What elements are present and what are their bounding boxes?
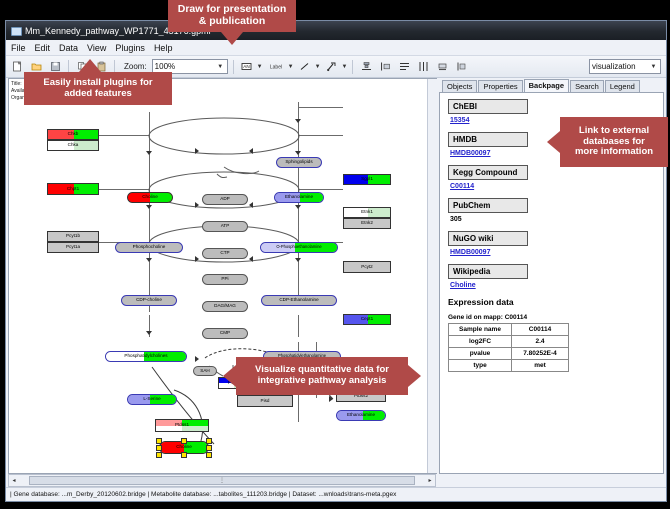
tab-search[interactable]: Search [570, 80, 604, 92]
callout-visualize-data: Visualize quantitative data for integrat… [236, 357, 408, 395]
arrow-dag-to-cmp-left [195, 256, 199, 262]
new-file-icon[interactable] [9, 58, 25, 75]
backpage-link-nugo[interactable]: HMDB00097 [450, 249, 655, 256]
node-gene-pcyt1a[interactable]: Pcyt1a [47, 242, 99, 253]
canvas-vertical-scrollbar[interactable] [427, 79, 437, 473]
visualization-value: visualization [592, 62, 649, 71]
zoom-label: Zoom: [124, 62, 147, 71]
node-ethanolamine-right[interactable]: Ethanolamine [336, 410, 386, 421]
backpage-header-nugo: NuGO wiki [448, 231, 528, 246]
pathway-canvas[interactable]: Title: Availa Organi [8, 78, 437, 474]
svg-text:AN: AN [243, 64, 249, 69]
callout-install-plugins: Easily install plugins for added feature… [24, 72, 172, 105]
chevron-down-icon[interactable]: ▼ [288, 64, 294, 70]
arrow-adp-to-atp-right [249, 148, 253, 154]
node-sah[interactable]: SAH [193, 366, 217, 376]
edge-to-phosphatidylethanolamine [298, 315, 299, 337]
tab-backpage[interactable]: Backpage [524, 79, 569, 92]
sidebar-tabs: Objects Properties Backpage Search Legen… [439, 78, 664, 92]
cell-value: C00114 [512, 324, 569, 336]
node-adp[interactable]: ADP [202, 194, 248, 205]
chevron-down-icon[interactable]: ▼ [315, 64, 321, 70]
cell-key: pvalue [449, 348, 512, 360]
menu-item-help[interactable]: Help [154, 43, 173, 53]
toolbar-separator [352, 60, 353, 74]
callout-text: Draw for presentation & publication [178, 4, 287, 28]
line-icon[interactable] [297, 58, 313, 75]
expression-data-title: Expression data [448, 297, 655, 307]
node-gene-pcyt1b[interactable]: Pcyt1b [47, 231, 99, 242]
edge-sgpl1-stub [298, 107, 343, 108]
node-phosphatidylcholines[interactable]: Phosphatidylcholines [105, 351, 187, 362]
node-gene-chkb[interactable]: Chkb [47, 129, 99, 140]
node-gene-etnk2[interactable]: Etnk2 [343, 218, 391, 229]
node-gene-etnk1[interactable]: Etnk1 [343, 207, 391, 218]
backpage-header-hmdb: HMDB [448, 132, 528, 147]
backpage-link-kegg[interactable]: C00114 [450, 183, 655, 190]
node-gene-pisd[interactable]: Pisd [237, 395, 293, 407]
arrow-ctp-to-ppi-right [249, 202, 253, 208]
arrow-dag-to-cmp-right [249, 256, 253, 262]
backpage-link-wikipedia[interactable]: Choline [450, 282, 655, 289]
menu-item-data[interactable]: Data [59, 43, 78, 53]
menu-item-plugins[interactable]: Plugins [115, 43, 145, 53]
arrow-pe-to-pc [195, 356, 199, 362]
svg-text:Label: Label [270, 65, 282, 71]
arrow-choline-to-phosphocholine [146, 151, 152, 155]
status-bar-text: | Gene database: ...m_Derby_20120602.bri… [10, 491, 396, 498]
visualization-combo[interactable]: visualization ▼ [589, 59, 661, 74]
node-cmp[interactable]: CMP [202, 328, 248, 339]
selection-handle[interactable] [206, 452, 212, 458]
node-choline-top[interactable]: Choline [127, 192, 173, 203]
arrow-to-ethanolamine [329, 396, 333, 402]
edge-pcyt2-stub [298, 189, 343, 190]
arrow-to-phosphatidylcholines [146, 331, 152, 335]
cell-key: Sample name [449, 324, 512, 336]
table-row: type met [449, 360, 569, 372]
scrollbar-thumb[interactable]: ⋮ [29, 476, 415, 485]
node-gene-sgpl1[interactable]: Sgpl1 [343, 174, 391, 185]
cell-value: met [512, 360, 569, 372]
screenshot-root: Mm_Kennedy_pathway_WP1771_45176.gpml Fil… [0, 0, 670, 509]
node-ppi[interactable]: PPi [202, 274, 248, 285]
table-row: log2FC 2.4 [449, 336, 569, 348]
zoom-value: 100% [155, 62, 216, 71]
window-titlebar: Mm_Kennedy_pathway_WP1771_45176.gpml [6, 21, 666, 40]
backpage-header-chebi: ChEBI [448, 99, 528, 114]
edge-etnk-stub [298, 135, 343, 136]
node-gene-chpt1[interactable]: Chpt1 [47, 183, 99, 195]
edge-chpt1-stub [99, 189, 149, 190]
cell-key: type [449, 360, 512, 372]
callout-arrow-left-icon [547, 131, 560, 153]
edge-choline-column [149, 112, 150, 312]
tab-objects[interactable]: Objects [442, 80, 477, 92]
selection-handle[interactable] [181, 452, 187, 458]
node-ctp[interactable]: CTP [202, 248, 248, 259]
order-icon[interactable] [453, 58, 469, 75]
table-row: pvalue 7.80252E-4 [449, 348, 569, 360]
cell-key: log2FC [449, 336, 512, 348]
selection-handle[interactable] [156, 452, 162, 458]
node-ethanolamine[interactable]: Ethanolamine [274, 192, 324, 203]
arrow-phosphocholine-to-cdp [146, 205, 152, 209]
chevron-down-icon[interactable]: ▼ [257, 64, 263, 70]
expression-data-table: Sample name C00114 log2FC 2.4 pvalue 7.8… [448, 323, 569, 372]
node-cdp-ethanolamine[interactable]: CDP-Ethanolamine [261, 295, 337, 306]
chevron-down-icon[interactable]: ▼ [342, 64, 348, 70]
anchor-icon[interactable] [324, 58, 340, 75]
app-icon [10, 25, 21, 36]
backpage-header-pubchem: PubChem [448, 198, 528, 213]
layout-icon[interactable] [434, 58, 450, 75]
node-cdp-choline[interactable]: CDP-choline [121, 295, 177, 306]
chevron-down-icon[interactable]: ▼ [649, 64, 658, 70]
node-gene-pcyt2[interactable]: Pcyt2 [343, 261, 391, 273]
selection-handle[interactable] [181, 438, 187, 444]
arrow-sphingolipids-to-etn [295, 119, 301, 123]
node-o-phosphoethanolamine[interactable]: O-Phosphoethanolamine [260, 242, 338, 253]
arrow-cdpethn-to-pe [295, 258, 301, 262]
callout-text: Easily install plugins for added feature… [43, 78, 152, 99]
gene-id-line: Gene id on mapp: C00114 [448, 314, 655, 321]
cell-value: 2.4 [512, 336, 569, 348]
backpage-header-wikipedia: Wikipedia [448, 264, 528, 279]
arrow-etn-to-pethn [295, 151, 301, 155]
callout-text: Link to external databases for more info… [575, 126, 653, 158]
tab-properties[interactable]: Properties [478, 80, 522, 92]
arrow-adp-to-atp-left [195, 148, 199, 154]
scroll-left-arrow-icon[interactable]: ◂ [9, 477, 19, 484]
node-atp[interactable]: ATP [202, 221, 248, 232]
menu-item-file[interactable]: File [11, 43, 26, 53]
node-l-serine-left[interactable]: L-Serine [127, 394, 177, 405]
cell-value: 7.80252E-4 [512, 348, 569, 360]
node-dag-mag[interactable]: DAG/MAG [202, 301, 248, 312]
chevron-down-icon[interactable]: ▼ [216, 64, 225, 70]
callout-text: Visualize quantitative data for integrat… [255, 365, 389, 386]
menu-item-view[interactable]: View [87, 43, 106, 53]
node-phosphocholine[interactable]: Phosphocholine [115, 242, 183, 253]
callout-external-links: Link to external databases for more info… [560, 117, 668, 167]
status-bar: | Gene database: ...m_Derby_20120602.bri… [6, 487, 666, 501]
table-row: Sample name C00114 [449, 324, 569, 336]
label-icon[interactable]: Label [266, 58, 286, 75]
selection-handle[interactable] [156, 438, 162, 444]
node-sphingolipids[interactable]: Sphingolipids [276, 157, 322, 168]
canvas-horizontal-scrollbar[interactable]: ◂ ⋮ ▸ [8, 474, 436, 487]
node-gene-chka[interactable]: Chka [47, 140, 99, 151]
datanode-icon[interactable]: AN [239, 58, 255, 75]
callout-draw-for-publication: Draw for presentation & publication [168, 0, 296, 32]
stack-icon[interactable] [396, 58, 412, 75]
backpage-value-pubchem: 305 [450, 216, 655, 223]
callout-arrow-right-icon [408, 365, 421, 387]
tab-legend[interactable]: Legend [605, 80, 640, 92]
menu-item-edit[interactable]: Edit [35, 43, 51, 53]
selection-handle[interactable] [156, 445, 162, 451]
edge-chk-stub [99, 135, 149, 136]
arrow-pethn-to-cdpethn [295, 205, 301, 209]
node-gene-cept1[interactable]: Cept1 [343, 314, 391, 325]
node-gene-ptdss1[interactable]: Ptdss1 [155, 419, 209, 432]
scroll-right-arrow-icon[interactable]: ▸ [425, 477, 435, 484]
menu-bar: File Edit Data View Plugins Help [6, 40, 666, 56]
selection-handle[interactable] [206, 445, 212, 451]
selection-handle[interactable] [206, 438, 212, 444]
callout-arrow-down-icon [221, 32, 243, 45]
distribute-icon[interactable] [415, 58, 431, 75]
backpage-header-kegg: Kegg Compound [448, 165, 528, 180]
arrow-ctp-to-ppi-left [195, 202, 199, 208]
callout-arrow-up-icon [79, 59, 101, 72]
group-icon[interactable] [377, 58, 393, 75]
callout-arrow-left-icon [223, 365, 236, 387]
align-icon[interactable] [358, 58, 374, 75]
arrow-cdp-to-pc [146, 258, 152, 262]
toolbar-separator [233, 60, 234, 74]
